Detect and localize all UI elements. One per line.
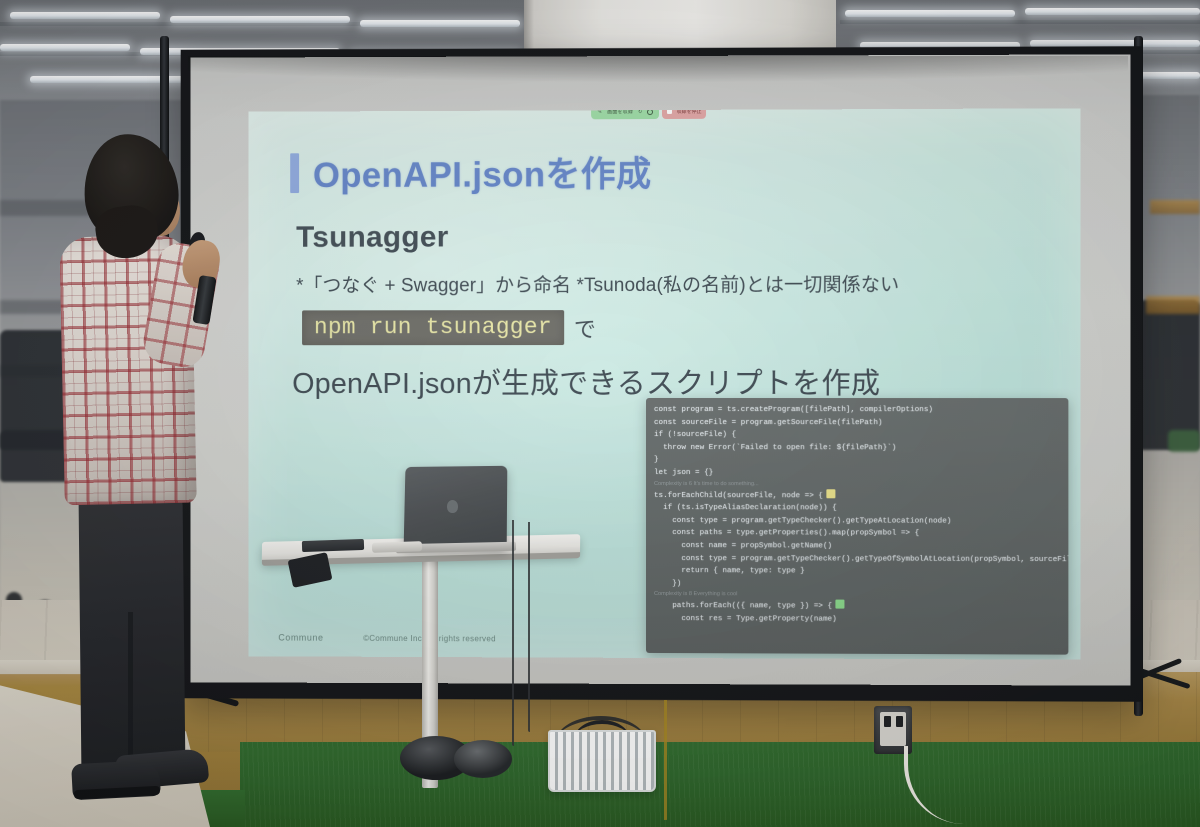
code-line-with-cursor: ts.forEachChild(sourceFile, node => { <box>654 489 1060 503</box>
ceiling-light <box>1025 8 1200 15</box>
code-line: if (!sourceFile) { <box>654 429 1060 442</box>
tablet-device[interactable] <box>302 539 364 552</box>
code-line: }) <box>654 578 1060 592</box>
code-line: return { name, type: type } <box>654 565 1060 579</box>
stop-icon[interactable] <box>667 109 672 114</box>
laptop-cable <box>528 522 530 732</box>
mic-icon[interactable] <box>647 109 653 115</box>
slide-note: *「つなぐ + Swagger」から命名 *Tsunoda(私の名前)とは一切関… <box>296 270 899 298</box>
screen-recording-toolbar[interactable]: ✎ 画面を収録 ↻ 収録を停止 <box>591 108 751 120</box>
code-hint-complexity-2: Complexity is 8 Everything is cool <box>654 590 1060 600</box>
record-pill[interactable]: ✎ 画面を収録 ↻ <box>591 108 659 119</box>
code-line: const type = program.getTypeChecker().ge… <box>654 553 1060 567</box>
chair-seat <box>1168 430 1200 452</box>
slide-heading: Tsunagger <box>296 221 448 255</box>
slide-footer: Commune ©Commune Inc. All rights reserve… <box>278 633 495 644</box>
code-line: const program = ts.createProgram([filePa… <box>654 404 1060 417</box>
slide-title-row: OpenAPI.jsonを作成 <box>290 146 651 198</box>
cable-basket <box>548 730 656 792</box>
office-chair <box>1138 300 1200 450</box>
pen-icon: ✎ <box>597 108 602 115</box>
ceiling-light <box>360 20 520 27</box>
shelf <box>1146 296 1200 314</box>
code-line: let json = {} <box>654 467 1060 480</box>
presentation-remote[interactable] <box>372 541 422 553</box>
title-accent-bar <box>290 153 299 193</box>
code-line-with-cursor: paths.forEach(({ name, type }) => { <box>654 599 1060 614</box>
command-suffix: で <box>574 312 596 344</box>
code-line: } <box>654 454 1060 467</box>
code-line: const name = propSymbol.getName() <box>654 540 1060 554</box>
code-line: const res = Type.getProperty(name) <box>654 613 1060 627</box>
stop-recording-pill[interactable]: 収録を停止 <box>662 108 706 118</box>
slide-title: OpenAPI.jsonを作成 <box>313 146 652 198</box>
shelf <box>1150 200 1200 214</box>
laptop-cable <box>512 520 514 746</box>
slide-body-line: OpenAPI.jsonが生成できるスクリプトを作成 <box>292 360 880 402</box>
apple-logo-icon <box>447 500 458 513</box>
code-line: const paths = type.getProperties().map(p… <box>654 527 1060 541</box>
projected-slide: ✎ 画面を収録 ↻ 収録を停止 OpenAPI.jsonを作成 Tsunagge… <box>249 108 1081 659</box>
code-line: const sourceFile = program.getSourceFile… <box>654 417 1060 430</box>
stop-label: 収録を停止 <box>676 108 701 115</box>
code-hint-complexity-1: Complexity is 6 It's time to do somethin… <box>654 480 1060 490</box>
ceiling-light <box>845 10 1015 17</box>
ceiling-light <box>0 44 130 51</box>
code-text: paths.forEach(({ name, type }) => { <box>654 602 832 611</box>
loop-icon[interactable]: ↻ <box>638 109 642 115</box>
ceiling-light <box>30 76 200 83</box>
npm-command-chip: npm run tsunagger <box>302 310 564 345</box>
code-text: ts.forEachChild(sourceFile, node => { <box>654 492 823 500</box>
yellow-collab-cursor-icon <box>826 489 835 498</box>
green-collab-cursor-icon <box>835 600 844 609</box>
record-label: 画面を収録 <box>607 108 633 115</box>
code-line: if (ts.isTypeAliasDeclaration(node)) { <box>654 502 1060 515</box>
ceiling-light <box>10 12 160 19</box>
code-line: const type = program.getTypeChecker().ge… <box>654 515 1060 528</box>
floor-equipment <box>454 740 512 778</box>
code-line: throw new Error(`Failed to open file: ${… <box>654 442 1060 455</box>
code-screenshot-panel: const program = ts.createProgram([filePa… <box>646 398 1068 655</box>
command-row: npm run tsunagger で <box>302 310 596 345</box>
photo-scene: ✎ 画面を収録 ↻ 収録を停止 OpenAPI.jsonを作成 Tsunagge… <box>0 0 1200 827</box>
footer-brand: Commune <box>278 633 323 643</box>
ceiling-light <box>170 16 350 23</box>
